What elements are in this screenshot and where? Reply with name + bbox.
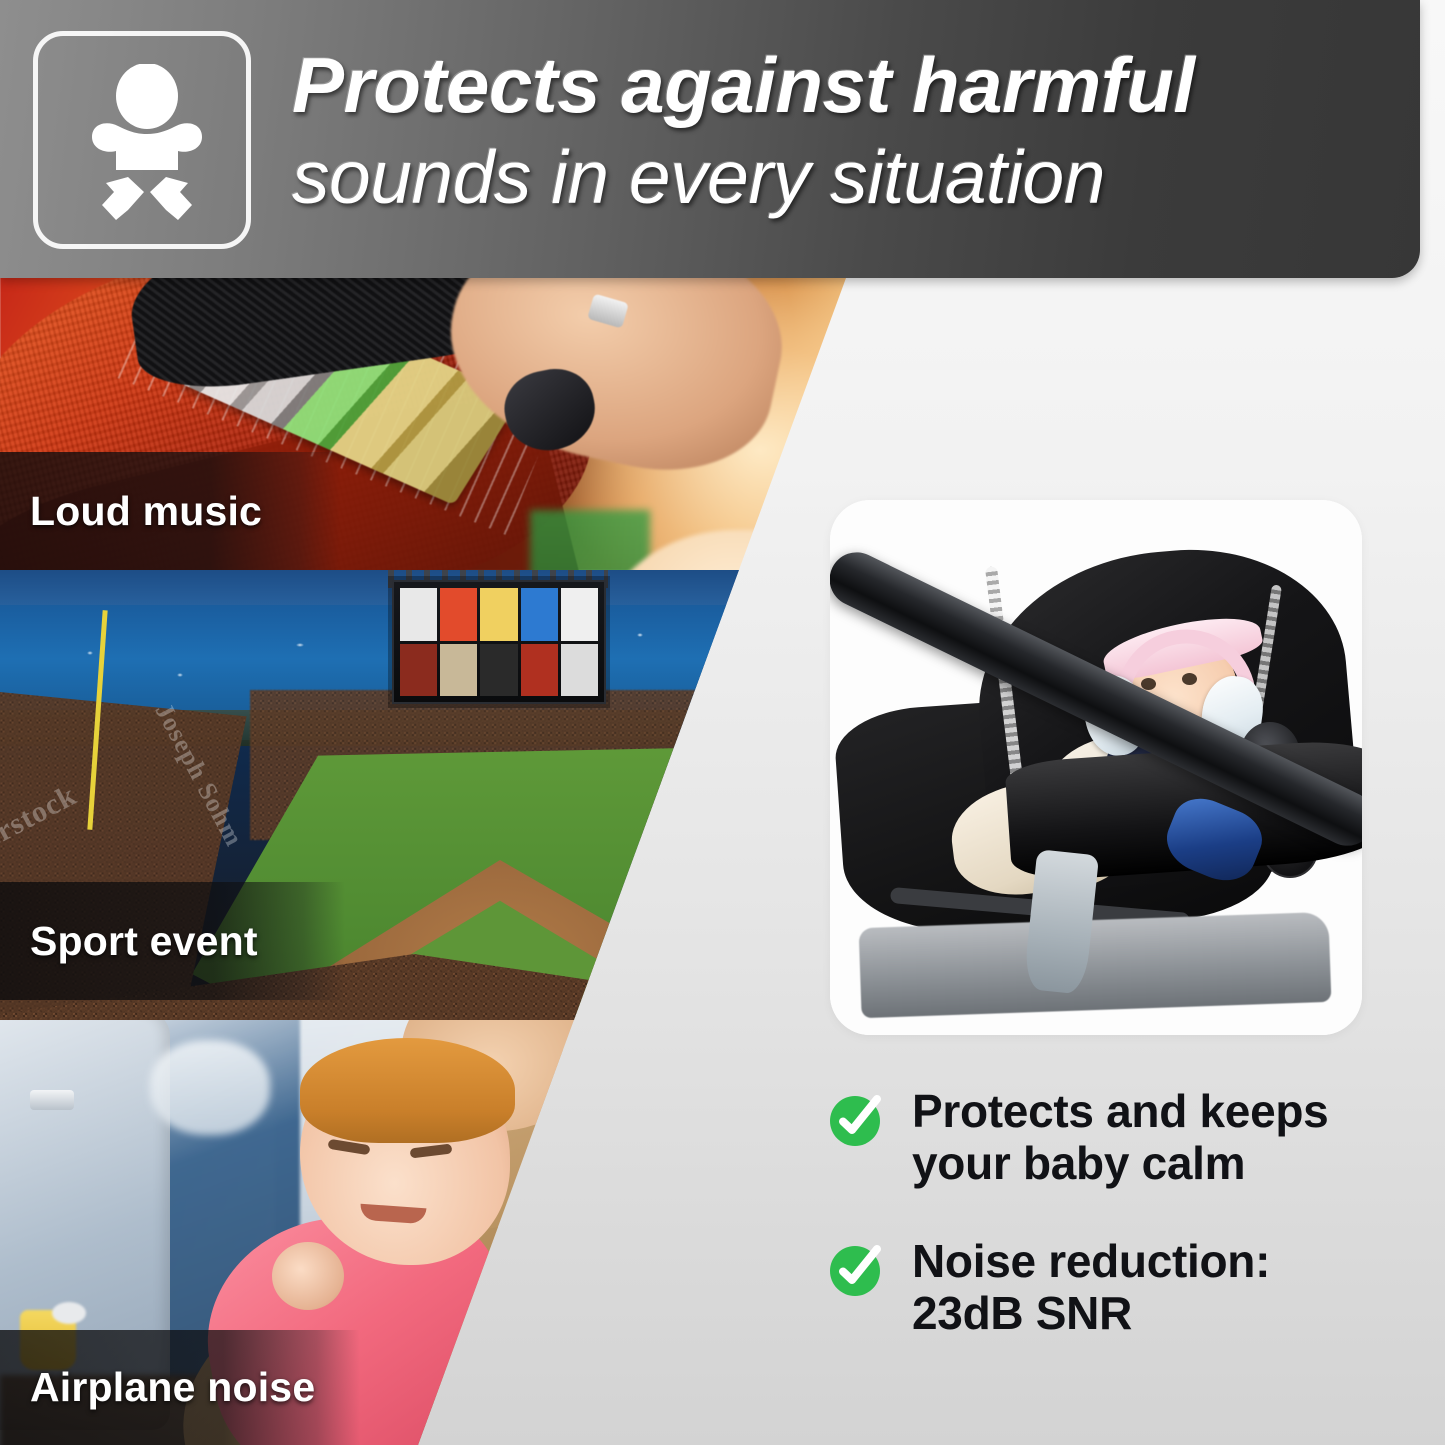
benefit-item: Protects and keeps your baby calm <box>828 1086 1388 1190</box>
caption-label: Sport event <box>30 918 258 965</box>
baby-icon <box>72 64 222 226</box>
green-light-blur <box>530 510 650 570</box>
header-banner: Protects against harmful sounds in every… <box>0 0 1420 278</box>
benefit-text: Noise reduction: 23dB SNR <box>912 1236 1388 1340</box>
airplane-window-light <box>150 1040 270 1135</box>
check-circle-icon <box>828 1090 886 1148</box>
check-circle-icon <box>828 1240 886 1298</box>
product-photo-card <box>830 500 1362 1035</box>
headline-line-1: Protects against harmful <box>292 46 1382 124</box>
caption-label: Airplane noise <box>30 1364 315 1411</box>
caption-airplane-noise: Airplane noise <box>0 1330 360 1445</box>
stroller-base <box>859 912 1332 1018</box>
caption-loud-music: Loud music <box>0 452 340 570</box>
headline-line-2: sounds in every situation <box>292 140 1382 215</box>
benefit-text: Protects and keeps your baby calm <box>912 1086 1388 1190</box>
baby-hair <box>300 1038 515 1143</box>
scoreboard-panels <box>400 588 598 696</box>
product-feature-poster: Joseph Sohm Joseph Sohm erstock <box>0 0 1445 1445</box>
headline: Protects against harmful sounds in every… <box>292 46 1382 215</box>
benefit-item: Noise reduction: 23dB SNR <box>828 1236 1388 1340</box>
car-seat-scene <box>830 500 1362 1035</box>
stadium-scoreboard <box>392 580 606 704</box>
caption-sport-event: Sport event <box>0 882 345 1000</box>
baby-fist <box>272 1242 344 1310</box>
caption-label: Loud music <box>30 488 262 535</box>
tray-table-latch <box>30 1090 74 1110</box>
benefits-list: Protects and keeps your baby calm Noise … <box>828 1086 1388 1386</box>
stock-watermark: Joseph Sohm <box>719 838 820 991</box>
baby-icon-badge <box>33 31 251 249</box>
